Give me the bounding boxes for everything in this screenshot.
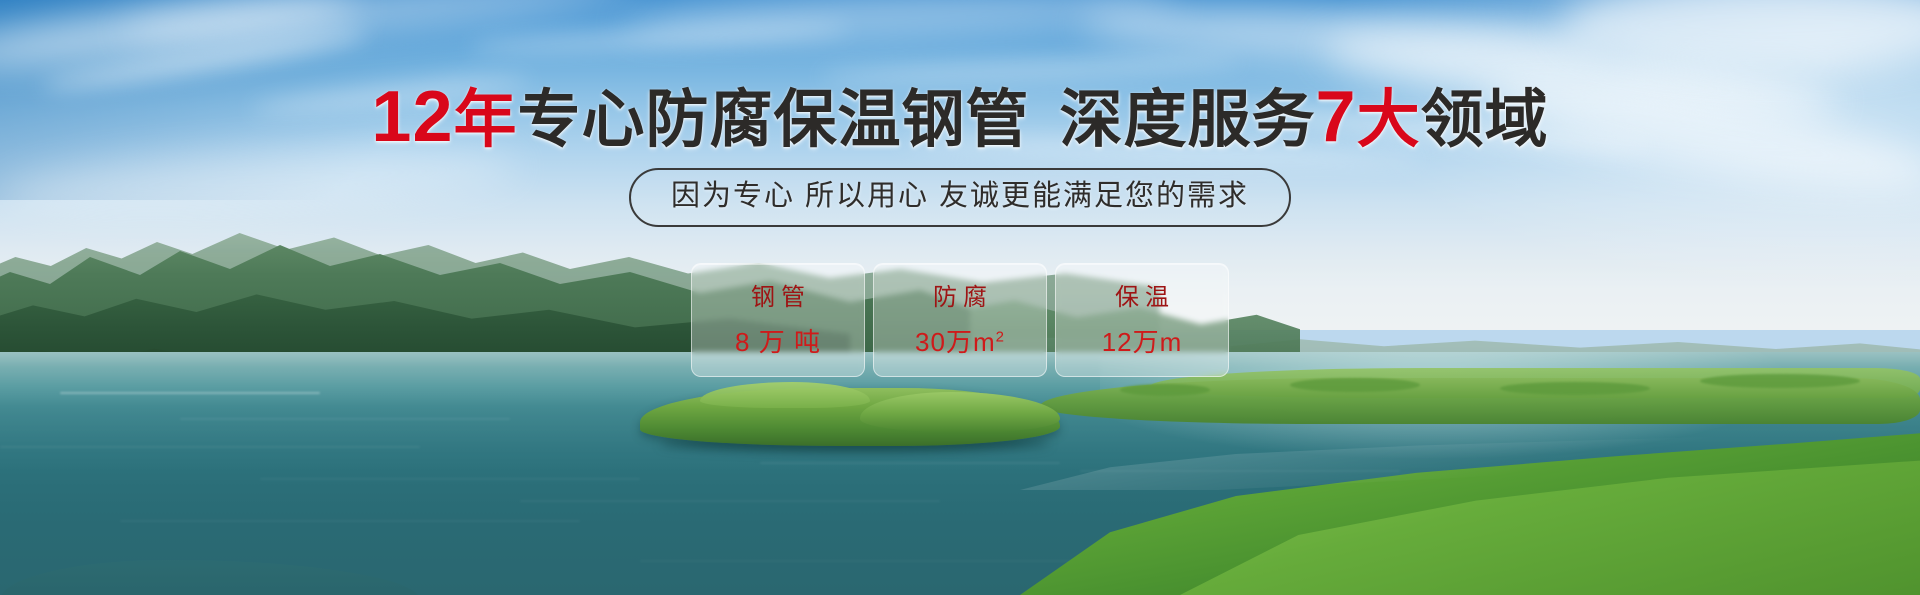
stat-card-label: 钢管: [745, 283, 811, 313]
subtitle-pill: 因为专心 所以用心 友诚更能满足您的需求: [629, 168, 1291, 227]
stat-card-value: 12万m: [1102, 327, 1183, 357]
headline-part3: 领域: [1421, 85, 1549, 155]
headline-fields-number: 7: [1316, 77, 1357, 157]
subtitle-container: 因为专心 所以用心 友诚更能满足您的需求: [0, 168, 1920, 227]
headline-part1: 专心防腐保温钢管: [518, 85, 1030, 155]
stat-card-value: 8 万 吨: [735, 327, 821, 357]
stat-card-steel-pipe[interactable]: 钢管 8 万 吨: [691, 263, 865, 377]
stat-card-value-main: 30万m: [915, 327, 996, 357]
hero-banner: 12年专心防腐保温钢管深度服务7大领域 因为专心 所以用心 友诚更能满足您的需求…: [0, 0, 1920, 595]
headline-fields-unit: 大: [1357, 85, 1421, 155]
stat-card-label: 防腐: [927, 283, 993, 313]
headline-part2: 深度服务: [1060, 85, 1316, 155]
stat-card-insulation[interactable]: 保温 12万m: [1055, 263, 1229, 377]
stat-card-value: 30万m2: [915, 327, 1005, 357]
headline-years-number: 12: [371, 77, 453, 157]
stat-card-anticorrosion[interactable]: 防腐 30万m2: [873, 263, 1047, 377]
stat-cards: 钢管 8 万 吨 防腐 30万m2 保温 12万m: [0, 263, 1920, 377]
hero-headline: 12年专心防腐保温钢管深度服务7大领域: [0, 82, 1920, 155]
stat-card-value-main: 12万m: [1102, 327, 1183, 357]
headline-years-unit: 年: [454, 85, 518, 155]
stat-card-value-main: 8 万 吨: [735, 327, 821, 357]
stat-card-label: 保温: [1109, 283, 1175, 313]
stat-card-value-exponent: 2: [996, 328, 1005, 345]
